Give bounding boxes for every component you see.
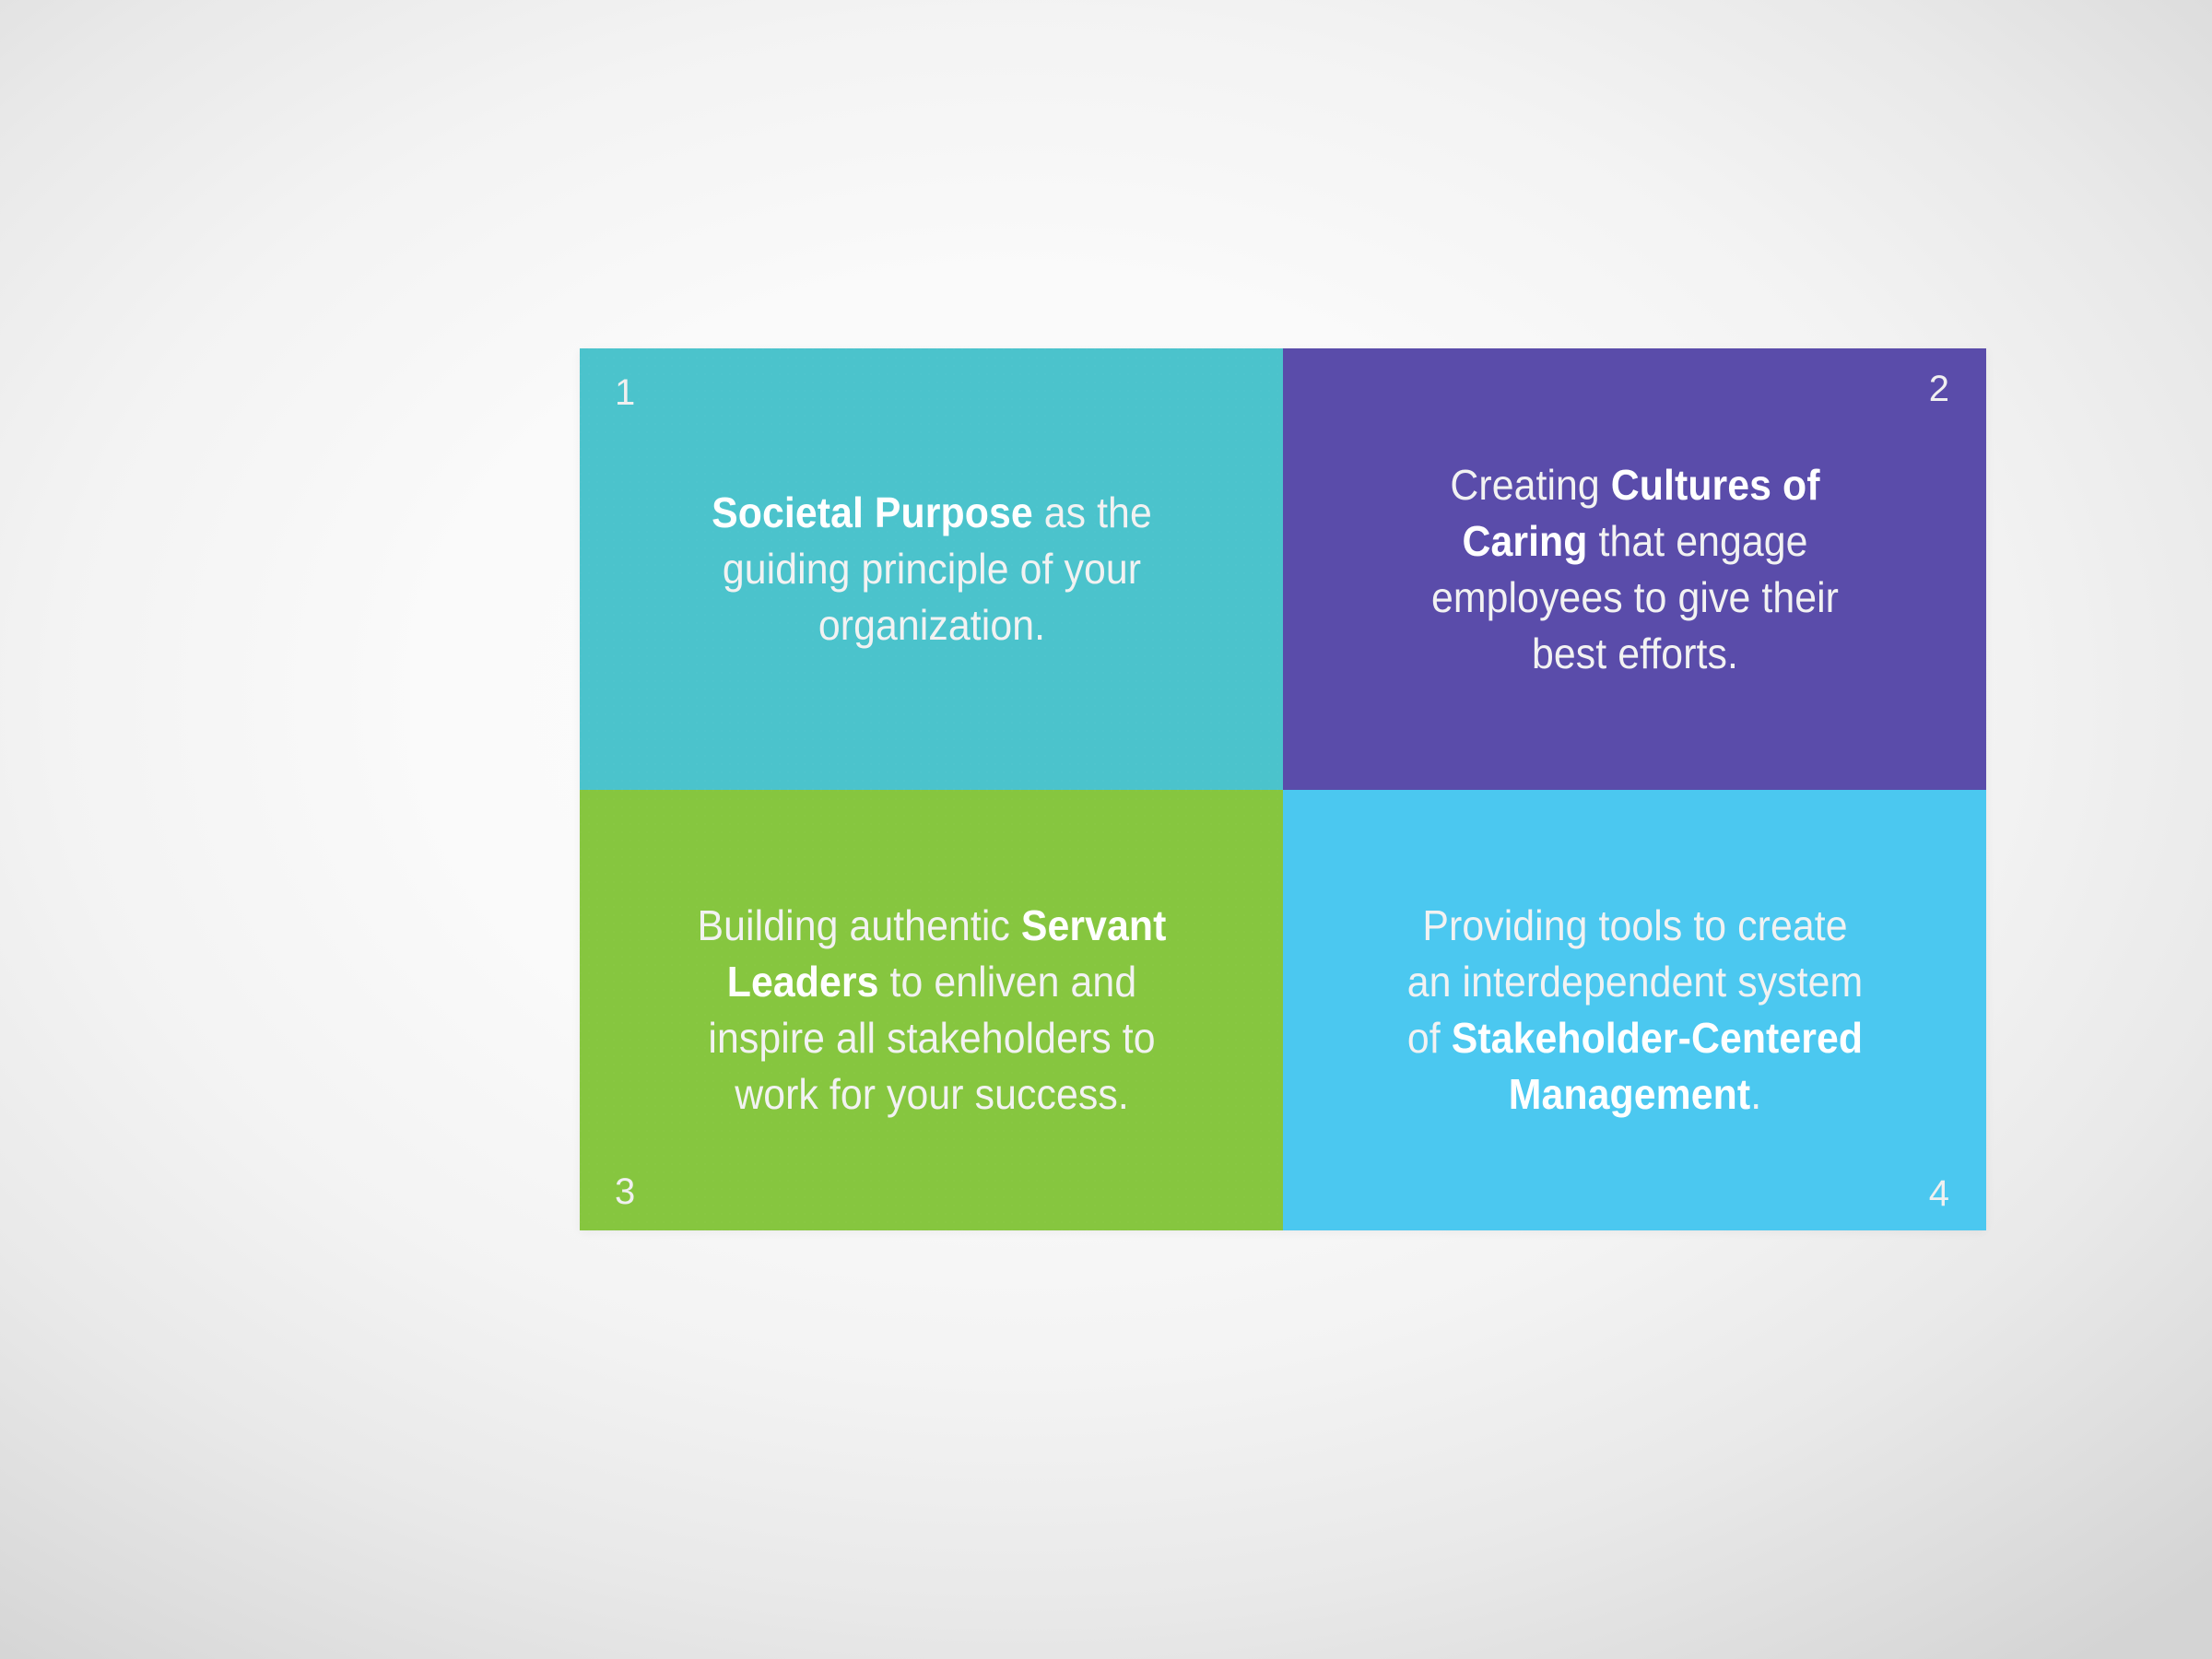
quadrant-3-number: 3 (615, 1173, 635, 1210)
quadrant-4-text-bold: Stakeholder-Centered Management (1451, 1014, 1862, 1118)
quadrant-4-text: Providing tools to create an interdepend… (1360, 898, 1909, 1123)
quadrant-grid: 1 Societal Purpose as the guiding princi… (580, 348, 1986, 1230)
quadrant-3-text: Building authentic Servant Leaders to en… (657, 898, 1206, 1123)
quadrant-4[interactable]: 4 Providing tools to create an interdepe… (1283, 790, 1986, 1230)
quadrant-2-text-lead: Creating (1450, 461, 1610, 509)
quadrant-4-number: 4 (1929, 1175, 1949, 1212)
quadrant-3-text-lead: Building authentic (697, 901, 1020, 949)
slide-canvas: 1 Societal Purpose as the guiding princi… (0, 0, 2212, 1659)
quadrant-1[interactable]: 1 Societal Purpose as the guiding princi… (580, 348, 1283, 790)
quadrant-1-text: Societal Purpose as the guiding principl… (657, 485, 1206, 653)
quadrant-4-text-rest: . (1750, 1070, 1761, 1118)
quadrant-1-number: 1 (615, 374, 635, 411)
quadrant-1-text-bold: Societal Purpose (712, 488, 1033, 536)
quadrant-2-number: 2 (1929, 371, 1949, 407)
quadrant-2[interactable]: 2 Creating Cultures of Caring that engag… (1283, 348, 1986, 790)
quadrant-2-text: Creating Cultures of Caring that engage … (1360, 457, 1909, 682)
quadrant-3[interactable]: 3 Building authentic Servant Leaders to … (580, 790, 1283, 1230)
